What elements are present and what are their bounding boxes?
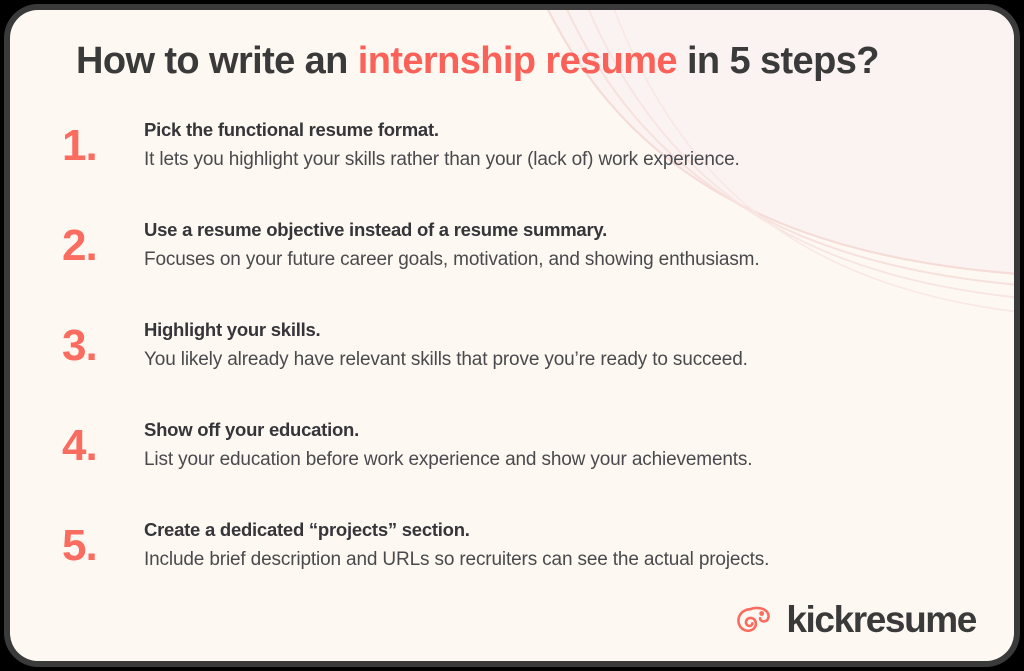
- step-description: Focuses on your future career goals, mot…: [144, 247, 974, 273]
- step-description: It lets you highlight your skills rather…: [144, 147, 974, 173]
- step-title: Show off your education.: [144, 418, 974, 443]
- page-title-highlight: internship resume: [358, 40, 677, 82]
- step-content: Pick the functional resume format. It le…: [144, 118, 974, 173]
- step-content: Use a resume objective instead of a resu…: [144, 218, 974, 273]
- list-item: 1. Pick the functional resume format. It…: [62, 118, 974, 218]
- page-title: How to write an internship resume in 5 s…: [76, 40, 974, 83]
- step-number: 4.: [62, 424, 134, 468]
- brand-logo: kickresume: [733, 599, 976, 639]
- infographic-card-frame: How to write an internship resume in 5 s…: [4, 4, 1020, 667]
- step-description: You likely already have relevant skills …: [144, 347, 974, 373]
- list-item: 4. Show off your education. List your ed…: [62, 418, 974, 518]
- step-number: 2.: [62, 224, 134, 268]
- step-title: Highlight your skills.: [144, 318, 974, 343]
- step-title: Use a resume objective instead of a resu…: [144, 218, 974, 243]
- infographic-card: How to write an internship resume in 5 s…: [10, 10, 1014, 661]
- list-item: 2. Use a resume objective instead of a r…: [62, 218, 974, 318]
- list-item: 3. Highlight your skills. You likely alr…: [62, 318, 974, 418]
- page-title-part-1: How to write an: [76, 40, 358, 82]
- step-content: Highlight your skills. You likely alread…: [144, 318, 974, 373]
- steps-list: 1. Pick the functional resume format. It…: [62, 118, 974, 618]
- step-description: Include brief description and URLs so re…: [144, 547, 974, 573]
- step-number: 3.: [62, 324, 134, 368]
- brand-name: kickresume: [786, 601, 976, 638]
- step-number: 5.: [62, 524, 134, 568]
- step-content: Create a dedicated “projects” section. I…: [144, 518, 974, 573]
- step-title: Create a dedicated “projects” section.: [144, 518, 974, 543]
- page-title-part-2: in 5 steps?: [677, 40, 879, 82]
- chameleon-logo-icon: [733, 599, 773, 639]
- step-title: Pick the functional resume format.: [144, 118, 974, 143]
- step-content: Show off your education. List your educa…: [144, 418, 974, 473]
- step-description: List your education before work experien…: [144, 447, 974, 473]
- step-number: 1.: [62, 124, 134, 168]
